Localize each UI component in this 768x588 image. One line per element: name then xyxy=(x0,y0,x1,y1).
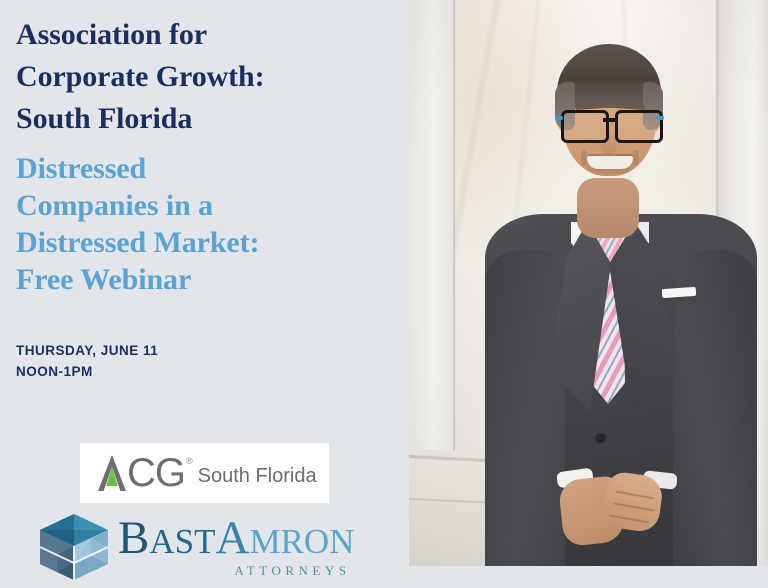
bastamron-b: B xyxy=(118,512,149,564)
registered-trademark-icon: ® xyxy=(186,457,192,466)
left-text-column: Association for Corporate Growth: South … xyxy=(0,0,409,588)
bastamron-wordmark: BASTAMRON ATTORNEYS xyxy=(118,513,354,579)
suit-arm-right xyxy=(673,250,757,566)
bastamron-mron: MRON xyxy=(249,522,354,561)
speaker-photo xyxy=(409,0,768,566)
glasses-bridge xyxy=(603,118,617,122)
bastamron-ast: AST xyxy=(149,522,215,561)
smiling-mouth xyxy=(587,156,633,169)
poster-canvas: Association for Corporate Growth: South … xyxy=(0,0,768,588)
bastamron-name: BASTAMRON xyxy=(118,512,354,564)
smile-crease-right xyxy=(633,150,639,166)
bastamron-tagline: ATTORNEYS xyxy=(118,563,354,579)
person-figure xyxy=(409,0,768,566)
acg-letters-cg: CG xyxy=(127,453,185,493)
organization-title: Association for Corporate Growth: South … xyxy=(16,14,406,140)
bastamron-a: A xyxy=(215,512,249,564)
lens-right xyxy=(615,110,663,143)
acg-chapter-name: South Florida xyxy=(198,459,317,488)
acg-letter-a-icon xyxy=(97,453,127,493)
acg-wordmark: CG ® xyxy=(97,453,192,493)
event-date-time: THURSDAY, JUNE 11 NOON-1PM xyxy=(16,340,316,382)
suit-arm-left xyxy=(485,250,565,566)
event-title: Distressed Companies in a Distressed Mar… xyxy=(16,150,411,298)
eyeglasses-icon xyxy=(559,108,661,142)
glasses-temple-left xyxy=(556,116,563,120)
acg-logo: CG ® South Florida xyxy=(80,443,329,503)
bastamron-logo: BASTAMRON ATTORNEYS xyxy=(38,512,354,582)
neck xyxy=(577,178,639,238)
lens-left xyxy=(561,110,609,143)
glasses-temple-right xyxy=(657,116,664,120)
bastamron-cube-icon xyxy=(38,512,110,582)
jacket-button xyxy=(595,432,606,443)
